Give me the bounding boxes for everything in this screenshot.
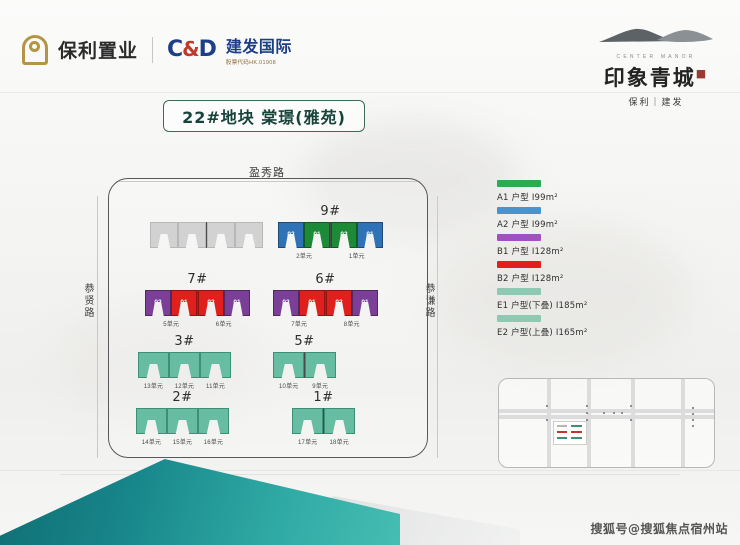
keymap-tick <box>621 412 623 414</box>
unit-block[interactable] <box>150 222 178 248</box>
unit-seam <box>323 408 324 434</box>
building-units-row: 02010201 <box>273 290 378 316</box>
unit-name-label: 15单元 <box>167 437 198 446</box>
keymap-tick <box>630 419 632 421</box>
page-header: 保利置业 C&D 建发国际 股票代码HK.01908 CENTER MANOR … <box>0 0 740 92</box>
unit-block[interactable]: 01 <box>224 290 250 316</box>
keymap-road-v <box>587 379 591 467</box>
mountain-shape-front <box>0 459 400 545</box>
unit-seam <box>330 222 331 248</box>
building-5[interactable]: 5#10单元9单元 <box>273 352 336 390</box>
unit-name-row: 17单元18单元 <box>292 437 355 446</box>
keymap-tick <box>546 419 548 421</box>
unit-name-row: 13单元12单元11单元 <box>138 381 231 390</box>
unit-block[interactable]: 01 <box>299 290 325 316</box>
unit-block[interactable]: 01 <box>171 290 197 316</box>
unit-block[interactable] <box>169 352 200 378</box>
cd-stock-code: 股票代码HK.01908 <box>226 58 292 66</box>
unit-code-label: 01 <box>180 300 187 307</box>
unit-name-label: 12单元 <box>169 381 200 390</box>
building-9[interactable]: 9#020102012单元1单元 <box>278 222 383 260</box>
keymap-tick <box>586 405 588 407</box>
unit-block[interactable]: 01 <box>304 222 330 248</box>
page-title-text: 22#地块 棠璟(雅苑) <box>182 104 346 128</box>
unit-block[interactable] <box>324 408 355 434</box>
unit-block[interactable]: 01 <box>357 222 383 248</box>
unit-name-label: 16单元 <box>198 437 229 446</box>
legend-item[interactable]: B1 户型 I128m² <box>497 234 647 257</box>
unit-name-row: 14单元15单元16单元 <box>136 437 229 446</box>
unit-code-label: 01 <box>233 300 240 307</box>
unit-block[interactable]: 02 <box>326 290 352 316</box>
keymap-road-v <box>547 379 551 467</box>
legend-item[interactable]: E2 户型(上叠) I165m² <box>497 315 647 338</box>
keymap-bar <box>557 431 567 433</box>
unit-block[interactable]: 02 <box>331 222 357 248</box>
unit-block[interactable] <box>136 408 167 434</box>
building-number-label: 3# <box>138 334 231 349</box>
keymap-bar <box>571 431 582 433</box>
page-title: 22#地块 棠璟(雅苑) <box>163 100 365 132</box>
unit-code-label: 01 <box>361 300 368 307</box>
unit-block[interactable] <box>235 222 263 248</box>
keymap-tick <box>586 419 588 421</box>
legend-label: E1 户型(下叠) I185m² <box>497 299 647 311</box>
project-latin-name: CENTER MANOR <box>590 54 722 60</box>
unit-type-legend: A1 户型 I99m²A2 户型 I99m²B1 户型 I128m²B2 户型 … <box>497 180 647 342</box>
building-number-label: 7# <box>145 272 250 287</box>
unit-code-label: 02 <box>154 300 161 307</box>
watermark: 搜狐号@搜狐焦点宿州站 <box>590 520 728 537</box>
legend-label: A2 户型 I99m² <box>497 218 647 230</box>
legend-item[interactable]: A1 户型 I99m² <box>497 180 647 203</box>
unit-name-label: 2单元 <box>278 251 331 260</box>
keymap-site-plot <box>553 421 587 445</box>
building-units-row <box>292 408 355 434</box>
legend-item[interactable]: E1 户型(下叠) I185m² <box>497 288 647 311</box>
building-6[interactable]: 6#020102017单元8单元 <box>273 290 378 328</box>
building-7[interactable]: 7#020102015单元6单元 <box>145 290 250 328</box>
legend-label: B1 户型 I128m² <box>497 245 647 257</box>
unit-block[interactable]: 01 <box>352 290 378 316</box>
unit-name-row: 5单元6单元 <box>145 319 250 328</box>
unit-code-label: 01 <box>366 232 373 239</box>
unit-block[interactable]: 02 <box>145 290 171 316</box>
road-label-left: 恭贤路 <box>80 283 95 319</box>
legend-swatch <box>497 288 541 295</box>
unit-name-label: 17单元 <box>292 437 324 446</box>
unit-block[interactable] <box>200 352 231 378</box>
building-number-label: 2# <box>136 390 229 405</box>
keymap-tick <box>603 412 605 414</box>
unit-block[interactable] <box>138 352 169 378</box>
unit-name-label: 13单元 <box>138 381 169 390</box>
unit-name-row: 2单元1单元 <box>278 251 383 260</box>
unit-name-label: 5单元 <box>145 319 198 328</box>
unit-block[interactable] <box>207 222 235 248</box>
project-developers: 保利｜建发 <box>590 95 722 108</box>
logo-divider <box>152 37 153 63</box>
unit-code-label: 02 <box>340 232 347 239</box>
unit-name-label: 7单元 <box>273 319 326 328</box>
mountain-icon <box>597 26 715 48</box>
cd-logo-block: 建发国际 股票代码HK.01908 <box>226 33 292 66</box>
unit-seam <box>325 290 326 316</box>
legend-label: E2 户型(上叠) I165m² <box>497 326 647 338</box>
legend-item[interactable]: A2 户型 I99m² <box>497 207 647 230</box>
keymap-road-v <box>631 379 635 467</box>
building-units-row <box>138 352 231 378</box>
unit-name-label: 8单元 <box>326 319 379 328</box>
unit-name-label: 6单元 <box>198 319 251 328</box>
keymap-tick <box>586 412 588 414</box>
keymap-bar <box>557 425 567 427</box>
unit-name-label: 10单元 <box>273 381 305 390</box>
project-cn-name: 印象青城■ <box>590 62 722 92</box>
keymap-bar <box>571 437 582 439</box>
building-units-row <box>136 408 229 434</box>
legend-swatch <box>497 207 541 214</box>
unit-name-label: 14单元 <box>136 437 167 446</box>
keymap-tick <box>613 412 615 414</box>
legend-label: B2 户型 I128m² <box>497 272 647 284</box>
building-number-label: 6# <box>273 272 378 287</box>
page-canvas: 保利置业 C&D 建发国际 股票代码HK.01908 CENTER MANOR … <box>0 0 740 545</box>
unit-block[interactable]: 02 <box>198 290 224 316</box>
poly-logo-text: 保利置业 <box>58 36 138 63</box>
unit-code-label: 02 <box>207 300 214 307</box>
keymap-tick <box>630 405 632 407</box>
unit-code-label: 02 <box>282 300 289 307</box>
poly-logo-icon <box>22 35 48 65</box>
unit-block[interactable] <box>167 408 198 434</box>
building-units-row: 02010201 <box>145 290 250 316</box>
unit-block[interactable]: 02 <box>273 290 299 316</box>
legend-swatch <box>497 261 541 268</box>
partner-logos: 保利置业 C&D 建发国际 股票代码HK.01908 <box>22 33 292 66</box>
building-2[interactable]: 2#14单元15单元16单元 <box>136 408 229 446</box>
location-key-map[interactable] <box>498 378 715 468</box>
road-line-left <box>97 196 98 458</box>
legend-item[interactable]: B2 户型 I128m² <box>497 261 647 284</box>
keymap-tick <box>546 405 548 407</box>
keymap-tick <box>692 419 694 421</box>
unit-seam <box>197 290 198 316</box>
unit-code-label: 01 <box>308 300 315 307</box>
keymap-road-v <box>681 379 685 467</box>
keymap-tick <box>692 413 694 415</box>
legend-swatch <box>497 315 541 322</box>
unit-name-label: 11单元 <box>200 381 231 390</box>
unit-block[interactable] <box>273 352 304 378</box>
unit-seam <box>304 352 305 378</box>
unit-block[interactable] <box>305 352 336 378</box>
unit-block[interactable] <box>292 408 323 434</box>
legend-swatch <box>497 234 541 241</box>
legend-swatch <box>497 180 541 187</box>
building-units-row: 02010201 <box>278 222 383 248</box>
road-line-right <box>437 196 438 458</box>
unit-name-label: 18单元 <box>324 437 356 446</box>
building-number-label: 9# <box>278 204 383 219</box>
unit-code-label: 02 <box>335 300 342 307</box>
unit-name-label: 1单元 <box>331 251 384 260</box>
keymap-tick <box>692 425 694 427</box>
building-number-label: 1# <box>292 390 355 405</box>
keymap-bar <box>557 437 567 439</box>
unit-block[interactable] <box>198 408 229 434</box>
unit-code-label: 01 <box>313 232 320 239</box>
building-number-label: 5# <box>273 334 336 349</box>
unit-block[interactable] <box>178 222 206 248</box>
building-1[interactable]: 1#17单元18单元 <box>292 408 355 446</box>
legend-label: A1 户型 I99m² <box>497 191 647 203</box>
cd-logo-mark: C&D <box>167 37 216 62</box>
unit-name-row: 7单元8单元 <box>273 319 378 328</box>
building-units-row <box>150 222 263 248</box>
unit-name-row: 10单元9单元 <box>273 381 336 390</box>
building-3[interactable]: 3#13单元12单元11单元 <box>138 352 231 390</box>
project-logo: CENTER MANOR 印象青城■ 保利｜建发 <box>590 26 722 108</box>
keymap-tick <box>692 407 694 409</box>
unit-block[interactable]: 02 <box>278 222 304 248</box>
unit-name-label: 9单元 <box>305 381 337 390</box>
building-unlabeled[interactable] <box>150 222 263 251</box>
unit-code-label: 02 <box>287 232 294 239</box>
cd-logo-cn: 建发国际 <box>226 33 292 57</box>
backdrop-band <box>0 470 740 471</box>
building-units-row <box>273 352 336 378</box>
unit-seam <box>206 222 207 248</box>
keymap-bar <box>571 425 582 427</box>
